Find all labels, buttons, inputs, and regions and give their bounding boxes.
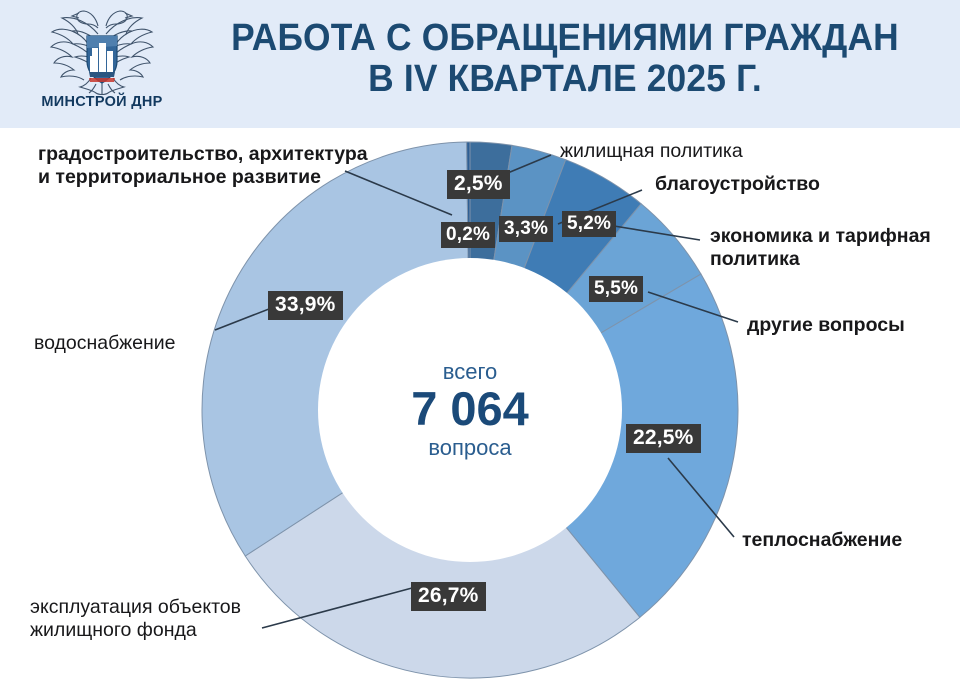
page-title-line1: РАБОТА С ОБРАЩЕНИЯМИ ГРАЖДАН [231, 17, 899, 59]
percent-badge-ekspluatatsiya: 26,7% [411, 582, 486, 611]
label-zhilishchnaya: жилищная политика [560, 140, 820, 163]
label-ekspluatatsiya: эксплуатация объектов жилищного фонда [30, 596, 280, 643]
percent-badge-vodosnabzhenie: 33,9% [268, 291, 343, 320]
page-title-line2: В IV КВАРТАЛЕ 2025 Г. [207, 59, 923, 100]
ministry-logo: МИНСТРОЙ ДНР [22, 4, 182, 124]
percent-badge-ekonomika: 5,2% [562, 211, 616, 237]
label-gradostroitelstvo: градостроительство, архитектура и террит… [38, 143, 398, 190]
header-banner: МИНСТРОЙ ДНР РАБОТА С ОБРАЩЕНИЯМИ ГРАЖДА… [0, 0, 960, 128]
ministry-logo-caption: МИНСТРОЙ ДНР [41, 94, 162, 110]
label-drugie: другие вопросы [747, 314, 960, 337]
dnr-eagle-emblem-icon [48, 4, 156, 96]
percent-badge-teplosnabzhenie: 22,5% [626, 424, 701, 453]
label-teplosnabzhenie: теплоснабжение [742, 529, 960, 552]
label-blagoustroystvo: благоустройство [655, 173, 905, 196]
label-ekonomika: экономика и тарифная политика [710, 225, 960, 272]
percent-badge-drugie: 5,5% [589, 276, 643, 302]
percent-badge-gradostroitelstvo: 0,2% [441, 222, 495, 248]
percent-badge-zhilishchnaya: 2,5% [447, 170, 510, 199]
percent-badge-blagoustroystvo: 3,3% [499, 216, 553, 242]
donut-hole [318, 258, 622, 562]
label-vodosnabzhenie: водоснабжение [34, 332, 234, 355]
page-title: РАБОТА С ОБРАЩЕНИЯМИ ГРАЖДАН В IV КВАРТА… [207, 18, 923, 100]
